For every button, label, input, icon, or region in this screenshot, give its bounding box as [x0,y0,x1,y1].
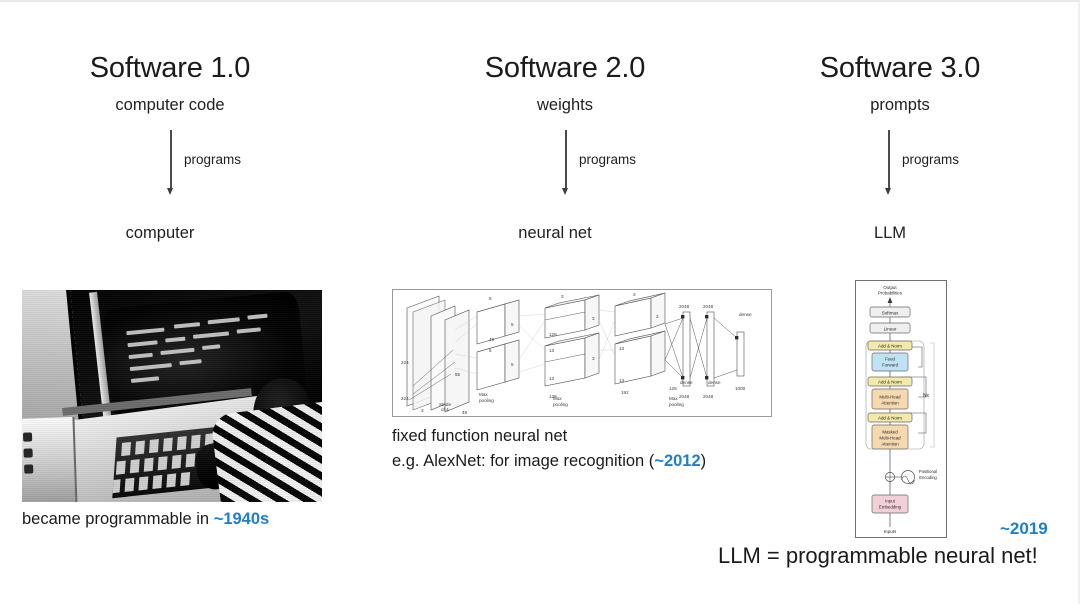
svg-text:Positional: Positional [919,469,937,474]
svg-text:Multi-Head: Multi-Head [879,394,901,399]
svg-text:2048: 2048 [679,394,690,399]
svg-text:pooling: pooling [553,402,568,407]
svg-text:1000: 1000 [735,386,746,391]
svg-text:128: 128 [549,332,557,337]
caption-text: e.g. AlexNet: for image recognition ( [392,452,654,470]
svg-text:Add & Norm: Add & Norm [878,380,902,385]
svg-text:55: 55 [455,372,461,377]
svg-text:13: 13 [549,348,555,353]
svg-text:224: 224 [401,396,409,401]
svg-text:dense: dense [708,380,721,385]
arrow-line [565,130,567,190]
svg-text:Forward: Forward [882,362,899,367]
caption-text: became programmable in [22,510,214,528]
photo-person-sleeve [210,401,322,502]
svg-text:Linear: Linear [884,327,897,332]
svg-text:2048: 2048 [703,394,714,399]
svg-text:3: 3 [592,316,595,321]
arrow-software-3: programs [888,130,968,200]
arrow-software-1: programs [170,130,250,200]
svg-text:2048: 2048 [679,304,690,309]
svg-text:128: 128 [669,386,677,391]
column-target-software-2: neural net [435,224,675,243]
svg-text:Attention: Attention [881,441,899,446]
svg-text:48: 48 [489,337,495,342]
arrow-software-2: programs [565,130,645,200]
svg-text:3: 3 [656,314,659,319]
svg-text:3: 3 [592,356,595,361]
column-source-software-1: computer code [40,96,300,115]
caption-text-suffix: ) [701,452,707,470]
caption-software-2-line1: fixed function neural net [392,427,567,446]
svg-text:5: 5 [489,296,492,301]
arrow-head [167,188,173,195]
footer-statement: LLM = programmable neural net! [718,543,1038,569]
svg-text:Output: Output [883,285,897,290]
column-title-software-2: Software 2.0 [435,52,695,85]
slide-canvas: Software 1.0 computer code programs comp… [0,0,1080,604]
column-source-software-3: prompts [770,96,1030,115]
arrow-head [885,188,891,195]
svg-text:Inputs: Inputs [884,529,897,534]
svg-text:192: 192 [621,390,629,395]
svg-text:Input: Input [885,498,896,503]
svg-text:pooling: pooling [669,402,684,407]
column-title-software-1: Software 1.0 [40,52,300,85]
column-target-software-3: LLM [770,224,1010,243]
svg-text:5: 5 [511,322,514,327]
svg-text:Max: Max [479,392,488,397]
vintage-terminal-photo [22,290,322,502]
svg-text:224: 224 [401,360,409,365]
svg-text:Probabilities: Probabilities [878,290,903,295]
svg-text:Softmax: Softmax [882,311,900,316]
year-badge-2019: ~2019 [1000,519,1048,539]
arrow-label-software-1: programs [184,152,241,167]
arrow-label-software-2: programs [579,152,636,167]
caption-year-highlight: ~1940s [214,510,270,528]
svg-text:Add & Norm: Add & Norm [878,344,902,349]
svg-text:Add & Norm: Add & Norm [878,416,902,421]
svg-text:48: 48 [462,410,468,415]
column-source-software-2: weights [435,96,695,115]
svg-text:Max: Max [669,396,678,401]
svg-text:13: 13 [619,346,625,351]
arrow-line [888,130,890,190]
svg-text:Nx: Nx [923,393,930,399]
arrow-line [170,130,172,190]
column-target-software-1: computer [40,224,280,243]
svg-text:Embedding: Embedding [879,504,902,509]
svg-text:5: 5 [489,348,492,353]
svg-text:Multi-Head: Multi-Head [879,435,901,440]
svg-text:5: 5 [511,362,514,367]
alexnet-architecture-figure: 224 224 3 Stride of 4 48 5 5 48 55 5 5 M… [392,289,772,417]
svg-text:Max: Max [553,396,562,401]
svg-text:2048: 2048 [703,304,714,309]
svg-text:3: 3 [633,292,636,297]
svg-text:Attention: Attention [881,400,899,405]
column-title-software-3: Software 3.0 [770,52,1030,85]
svg-text:3: 3 [561,294,564,299]
svg-text:3: 3 [421,408,424,413]
caption-software-2-line2: e.g. AlexNet: for image recognition (~20… [392,452,706,471]
svg-text:dense: dense [680,380,693,385]
svg-text:pooling: pooling [479,398,494,403]
svg-text:13: 13 [619,378,625,383]
svg-text:13: 13 [549,376,555,381]
svg-text:of 4: of 4 [441,407,449,412]
arrow-label-software-3: programs [902,152,959,167]
svg-text:Feed: Feed [885,356,896,361]
svg-text:Encoding: Encoding [919,475,937,480]
arrow-head [562,188,568,195]
svg-text:dense: dense [739,312,752,317]
caption-software-1: became programmable in ~1940s [22,510,269,529]
photo-side-equipment [22,417,78,502]
caption-year-highlight: ~2012 [654,452,700,470]
transformer-architecture-figure: Output Probabilities Softmax Linear Add … [855,280,947,538]
svg-text:Masked: Masked [882,429,898,434]
